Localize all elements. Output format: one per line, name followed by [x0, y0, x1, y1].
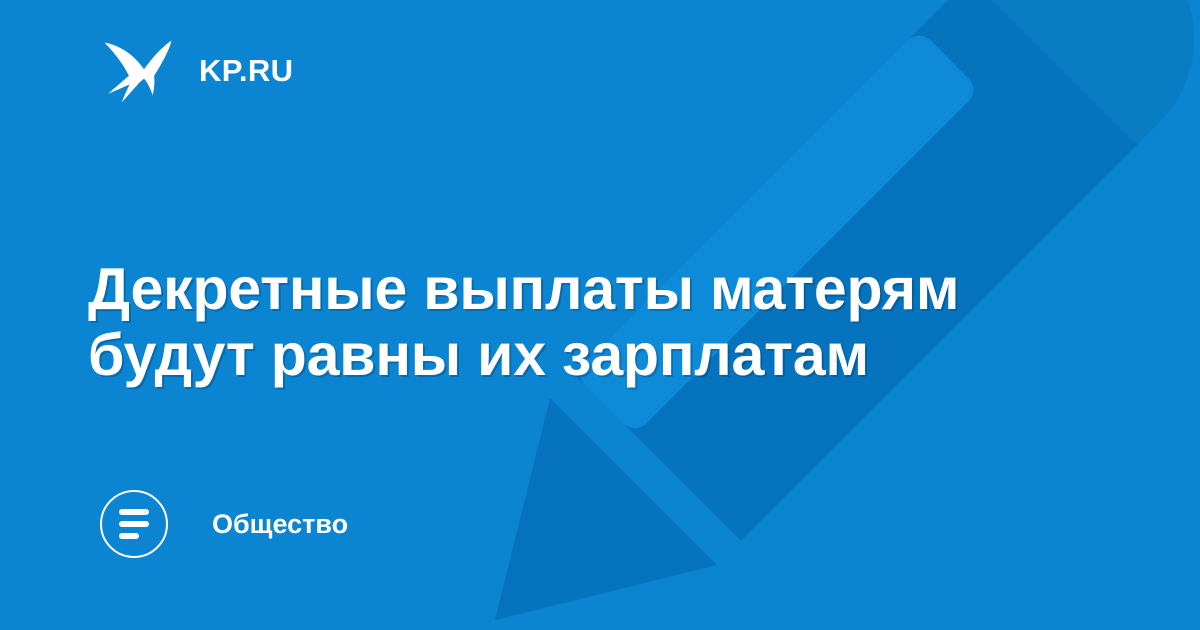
- hamburger-menu-icon: [100, 490, 168, 558]
- swallow-bird-icon: [103, 34, 175, 106]
- category-badge[interactable]: Общество: [100, 488, 348, 560]
- category-label: Общество: [212, 511, 348, 538]
- brand-name-label: KP.RU: [199, 55, 293, 86]
- headline-title: Декретные выплаты матерям будут равны их…: [88, 256, 988, 388]
- social-share-card: KP.RU Декретные выплаты матерям будут ра…: [0, 0, 1200, 630]
- brand-logo-row[interactable]: KP.RU: [103, 32, 293, 108]
- menu-bar-2: [119, 521, 149, 527]
- menu-bar-3: [119, 533, 139, 539]
- menu-bar-1: [119, 509, 149, 515]
